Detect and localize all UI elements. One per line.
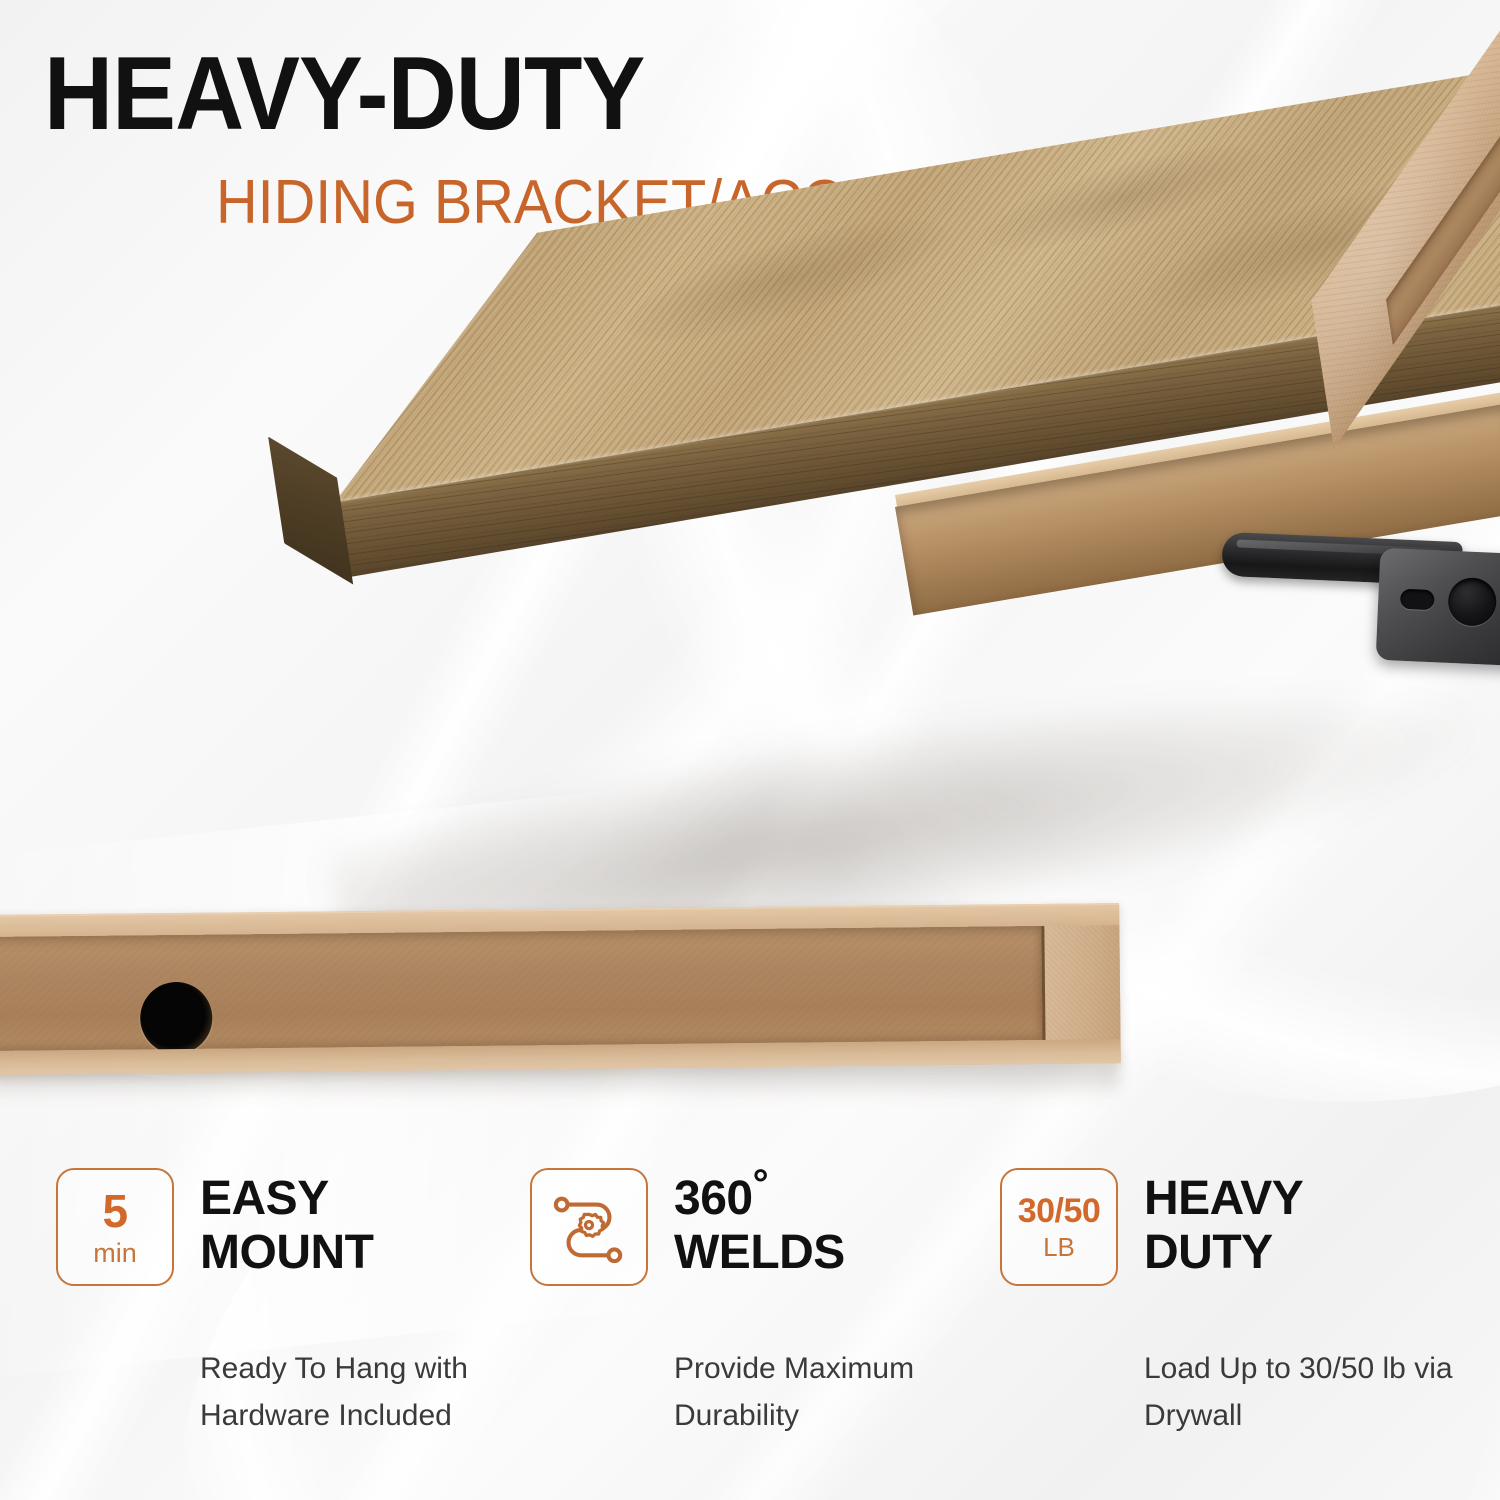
feature-description: Provide Maximum Durability (674, 1346, 990, 1439)
headline: HEAVY-DUTY (44, 44, 1148, 146)
feature-title-line2: DUTY (1144, 1226, 1303, 1280)
cross-section-end-cap (1041, 925, 1120, 1040)
feature-360-welds: 360° WELDS Provide Maximum Durability (530, 1168, 990, 1468)
feature-title: HEAVY DUTY (1144, 1168, 1303, 1280)
floating-shelf-photo (0, 255, 1500, 855)
feature-easy-mount: 5 min EASY MOUNT Ready To Hang with Hard… (56, 1168, 522, 1468)
feature-title-line2: MOUNT (200, 1226, 373, 1280)
feature-header: 5 min EASY MOUNT (56, 1168, 522, 1286)
clock-badge-icon: 5 min (56, 1168, 174, 1286)
weight-capacity-badge-icon: 30/50 LB (1000, 1168, 1118, 1286)
bracket-mounting-plate (1376, 548, 1500, 666)
shelf-channel-cross-section-photo (0, 915, 1150, 1087)
bracket-slot-hole (1400, 589, 1435, 610)
badge-value: 30/50 (1018, 1194, 1101, 1228)
feature-title-line1: 360 (674, 1172, 753, 1225)
product-marketing-image: HEAVY-DUTY HIDING BRACKET/ACCESSORY (0, 0, 1500, 1500)
degree-symbol: ° (753, 1162, 769, 1206)
feature-title-line1-wrap: 360° (674, 1172, 845, 1226)
cross-section-channel-interior (0, 926, 1043, 1051)
hiding-bracket (0, 255, 1500, 875)
badge-value: 5 (102, 1188, 127, 1234)
bracket-round-hole (1447, 577, 1497, 627)
feature-title-line2: WELDS (674, 1226, 845, 1280)
bracket-mounting-hole (140, 982, 213, 1055)
feature-title: 360° WELDS (674, 1168, 845, 1280)
badge-unit: min (93, 1240, 137, 1267)
feature-description: Load Up to 30/50 lb via Drywall (1144, 1346, 1470, 1439)
weld-path-gear-glyph (550, 1188, 628, 1266)
feature-row: 5 min EASY MOUNT Ready To Hang with Hard… (0, 1168, 1500, 1468)
feature-title-line1: HEAVY (1144, 1172, 1303, 1226)
badge-unit: LB (1043, 1234, 1075, 1260)
feature-description: Ready To Hang with Hardware Included (200, 1346, 522, 1439)
weld-path-gear-icon (530, 1168, 648, 1286)
feature-title: EASY MOUNT (200, 1168, 373, 1280)
feature-header: 30/50 LB HEAVY DUTY (1000, 1168, 1470, 1286)
feature-header: 360° WELDS (530, 1168, 990, 1286)
cross-section-body (0, 903, 1121, 1075)
feature-heavy-duty: 30/50 LB HEAVY DUTY Load Up to 30/50 lb … (1000, 1168, 1470, 1468)
feature-title-line1: EASY (200, 1172, 373, 1226)
